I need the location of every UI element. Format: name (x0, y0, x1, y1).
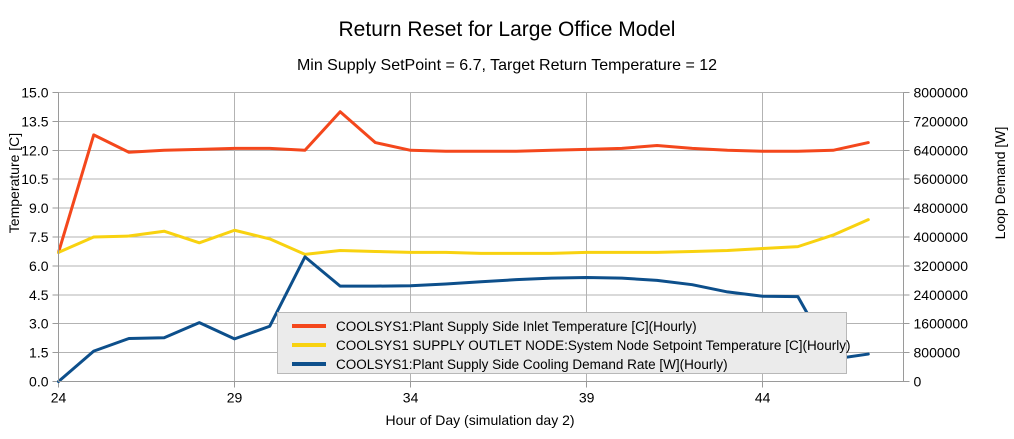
svg-text:39: 39 (579, 390, 595, 406)
svg-text:9.0: 9.0 (29, 200, 49, 216)
svg-text:3.0: 3.0 (29, 316, 49, 332)
legend: COOLSYS1:Plant Supply Side Inlet Tempera… (277, 312, 847, 374)
svg-text:7200000: 7200000 (914, 113, 969, 129)
svg-text:1.5: 1.5 (29, 345, 49, 361)
svg-text:7.5: 7.5 (29, 229, 49, 245)
legend-item[interactable]: COOLSYS1:Plant Supply Side Cooling Deman… (292, 355, 846, 373)
svg-text:2400000: 2400000 (914, 287, 969, 303)
svg-text:4.5: 4.5 (29, 287, 49, 303)
svg-text:10.5: 10.5 (21, 171, 48, 187)
series-line-1 (59, 112, 869, 253)
svg-text:1600000: 1600000 (914, 316, 969, 332)
svg-text:44: 44 (755, 390, 771, 406)
legend-item[interactable]: COOLSYS1:Plant Supply Side Inlet Tempera… (292, 317, 846, 335)
chart-container: Return Reset for Large Office Model Min … (0, 0, 1014, 439)
svg-text:24: 24 (51, 390, 67, 406)
legend-label-series-1: COOLSYS1:Plant Supply Side Inlet Tempera… (336, 319, 697, 334)
legend-item[interactable]: COOLSYS1 SUPPLY OUTLET NODE:System Node … (292, 336, 846, 354)
svg-text:12.0: 12.0 (21, 142, 48, 158)
svg-text:4800000: 4800000 (914, 200, 969, 216)
svg-text:5600000: 5600000 (914, 171, 969, 187)
legend-swatch-series-2 (292, 343, 326, 347)
svg-text:29: 29 (227, 390, 243, 406)
legend-swatch-series-1 (292, 324, 326, 328)
svg-text:6.0: 6.0 (29, 258, 49, 274)
svg-text:0.0: 0.0 (29, 374, 49, 390)
svg-text:800000: 800000 (914, 345, 961, 361)
svg-text:8000000: 8000000 (914, 85, 969, 101)
svg-text:34: 34 (403, 390, 419, 406)
svg-text:0: 0 (914, 374, 922, 390)
legend-label-series-2: COOLSYS1 SUPPLY OUTLET NODE:System Node … (336, 338, 850, 353)
legend-label-series-3: COOLSYS1:Plant Supply Side Cooling Deman… (336, 357, 728, 372)
svg-text:3200000: 3200000 (914, 258, 969, 274)
svg-text:15.0: 15.0 (21, 85, 48, 101)
svg-text:6400000: 6400000 (914, 142, 969, 158)
svg-text:13.5: 13.5 (21, 113, 48, 129)
svg-text:4000000: 4000000 (914, 229, 969, 245)
legend-swatch-series-3 (292, 362, 326, 366)
